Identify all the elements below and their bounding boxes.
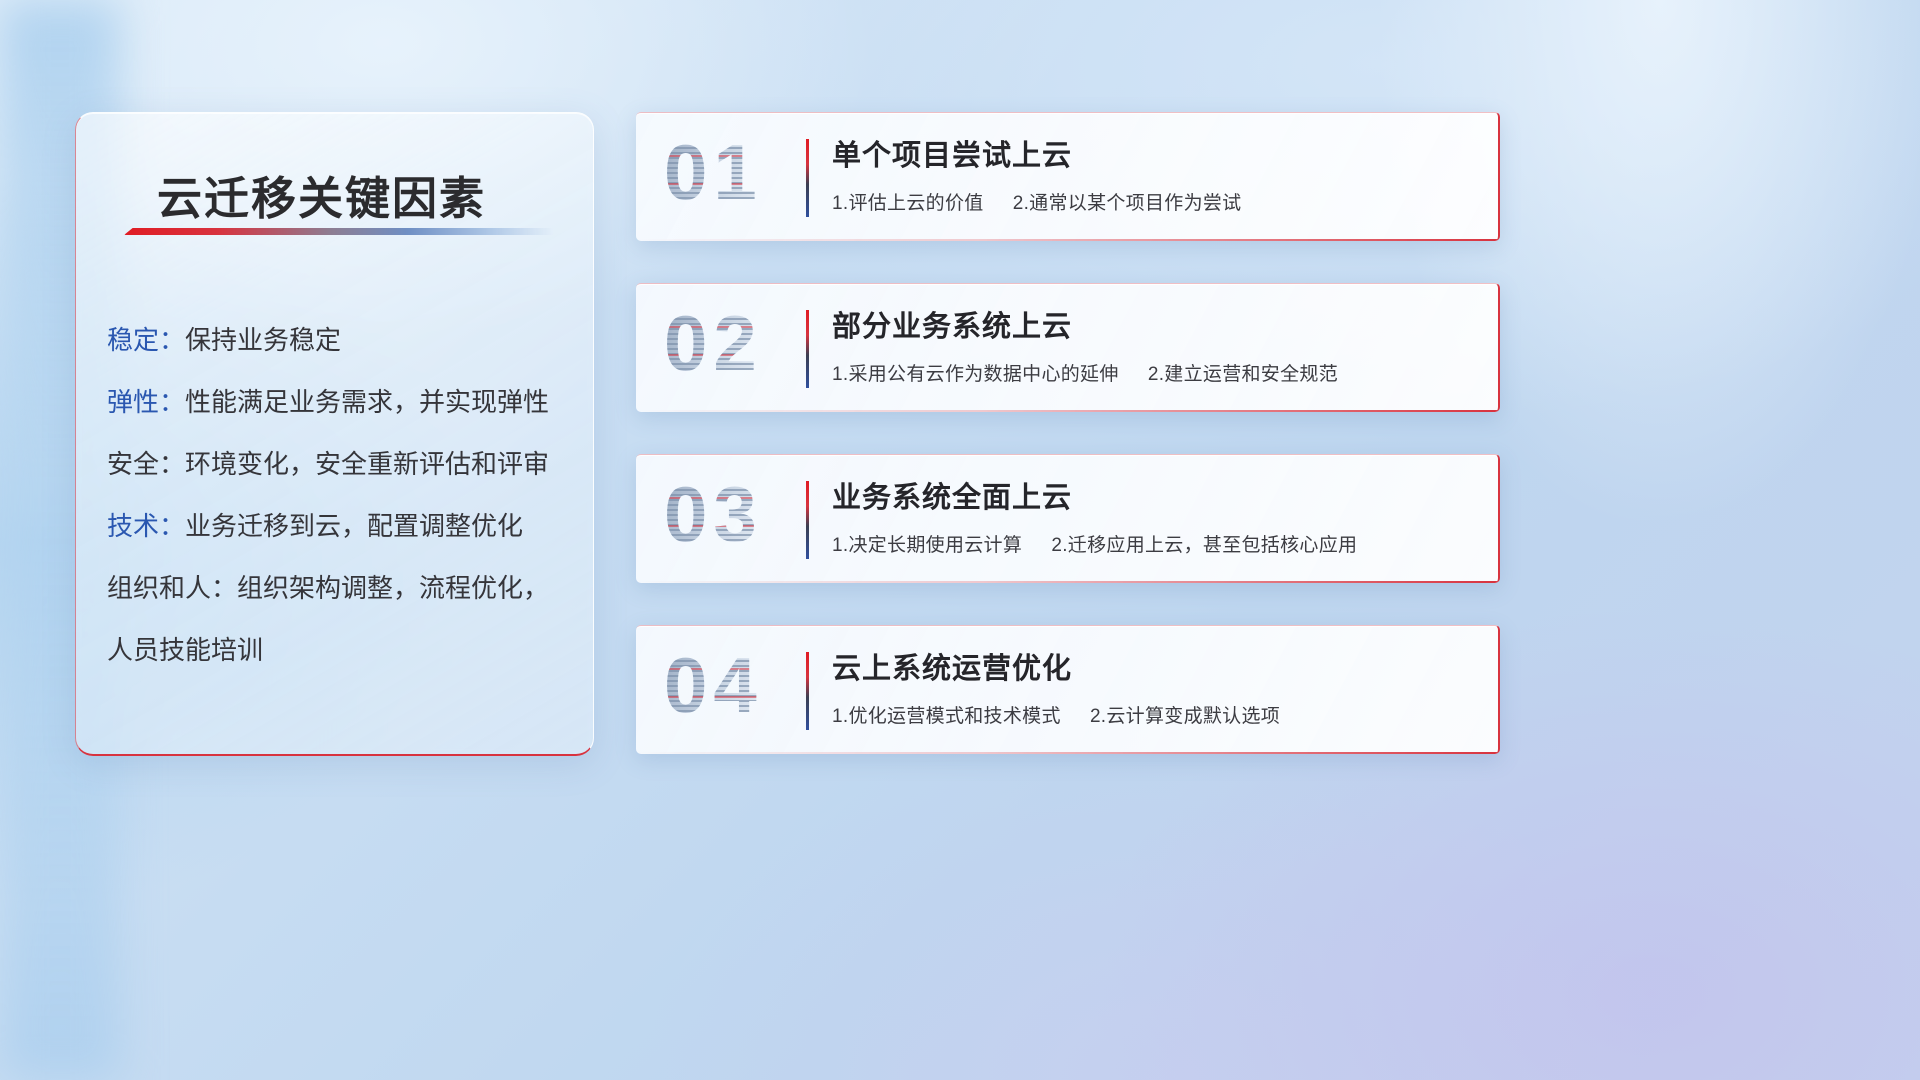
stage-detail-1: 1.优化运营模式和技术模式 [832, 706, 1061, 727]
list-item: 技术：业务迁移到云，配置调整优化 [107, 495, 577, 557]
factor-label: 弹性： [107, 387, 185, 417]
factor-label: 技术： [107, 511, 185, 541]
stage-card-03[interactable]: 03 03 业务系统全面上云 1.决定长期使用云计算 2.迁移应用上云，甚至包括… [636, 454, 1500, 583]
factor-text: 人员技能培训 [107, 635, 263, 665]
factor-text: 环境变化，安全重新评估和评审 [185, 449, 549, 479]
stage-detail-1: 1.决定长期使用云计算 [832, 535, 1022, 556]
list-item: 人员技能培训 [107, 619, 577, 681]
stage-title: 云上系统运营优化 [832, 645, 1474, 687]
list-item: 弹性：性能满足业务需求，并实现弹性 [107, 371, 577, 433]
factor-text: 组织架构调整，流程优化， [237, 573, 549, 603]
stage-detail-2: 2.建立运营和安全规范 [1148, 364, 1338, 385]
stage-title: 业务系统全面上云 [832, 474, 1474, 516]
stage-title: 单个项目尝试上云 [832, 132, 1474, 174]
list-item: 安全：环境变化，安全重新评估和评审 [107, 433, 577, 495]
page-title: 云迁移关键因素 [157, 162, 486, 227]
stage-card-04[interactable]: 04 04 云上系统运营优化 1.优化运营模式和技术模式 2.云计算变成默认选项 [636, 625, 1500, 754]
stage-divider-bar [806, 652, 809, 730]
stage-detail: 1.评估上云的价值 2.通常以某个项目作为尝试 [832, 188, 1474, 215]
key-factors-panel: 云迁移关键因素 稳定：保持业务稳定 弹性：性能满足业务需求，并实现弹性 安全：环… [75, 112, 594, 756]
stage-card-02[interactable]: 02 02 部分业务系统上云 1.采用公有云作为数据中心的延伸 2.建立运营和安… [636, 283, 1500, 412]
factor-list: 稳定：保持业务稳定 弹性：性能满足业务需求，并实现弹性 安全：环境变化，安全重新… [107, 309, 577, 681]
factor-label: 稳定： [107, 325, 185, 355]
factor-label: 安全： [107, 449, 185, 479]
stage-detail: 1.采用公有云作为数据中心的延伸 2.建立运营和安全规范 [832, 359, 1474, 386]
stage-number-01: 01 [664, 127, 763, 218]
stage-card-01[interactable]: 01 01 单个项目尝试上云 1.评估上云的价值 2.通常以某个项目作为尝试 [636, 112, 1500, 241]
stage-detail-1: 1.采用公有云作为数据中心的延伸 [832, 364, 1119, 385]
stage-divider-bar [806, 481, 809, 559]
factor-label: 组织和人： [107, 573, 237, 603]
factor-text: 业务迁移到云，配置调整优化 [185, 511, 523, 541]
stage-number-02: 02 [664, 298, 763, 389]
stage-detail-1: 1.评估上云的价值 [832, 193, 984, 214]
stage-number-04: 04 [664, 640, 763, 731]
migration-stage-cards: 01 01 单个项目尝试上云 1.评估上云的价值 2.通常以某个项目作为尝试 0… [636, 112, 1500, 796]
stage-detail-2: 2.迁移应用上云，甚至包括核心应用 [1051, 535, 1357, 556]
factor-text: 保持业务稳定 [185, 325, 341, 355]
stage-detail-2: 2.通常以某个项目作为尝试 [1013, 193, 1242, 214]
stage-divider-bar [806, 139, 809, 217]
stage-title: 部分业务系统上云 [832, 303, 1474, 345]
stage-divider-bar [806, 310, 809, 388]
factor-text: 性能满足业务需求，并实现弹性 [185, 387, 549, 417]
title-underline-rule [124, 228, 554, 235]
list-item: 组织和人：组织架构调整，流程优化， [107, 557, 577, 619]
stage-detail-2: 2.云计算变成默认选项 [1090, 706, 1280, 727]
list-item: 稳定：保持业务稳定 [107, 309, 577, 371]
stage-detail: 1.优化运营模式和技术模式 2.云计算变成默认选项 [832, 701, 1474, 728]
stage-number-03: 03 [664, 469, 763, 560]
stage-detail: 1.决定长期使用云计算 2.迁移应用上云，甚至包括核心应用 [832, 530, 1474, 557]
